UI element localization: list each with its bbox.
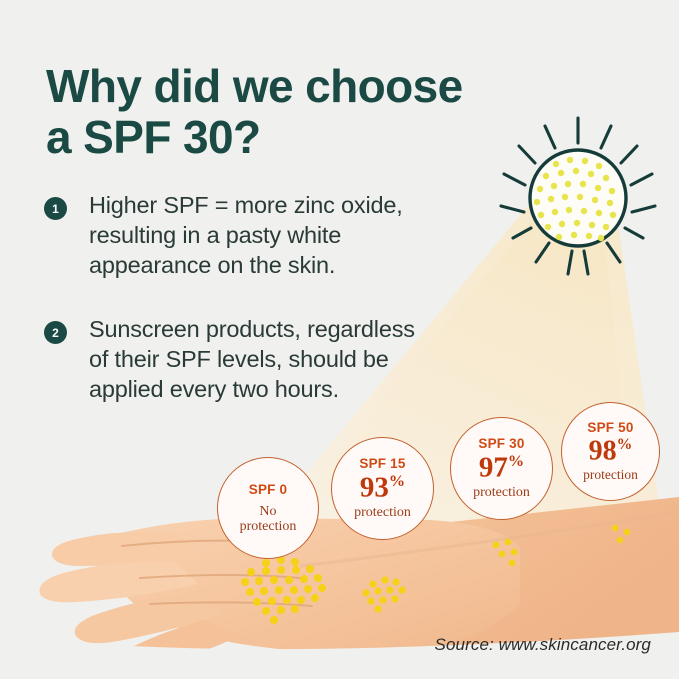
source-attribution: Source: www.skincancer.org <box>435 635 651 655</box>
list-item: 2 Sunscreen products, regardless of thei… <box>44 314 514 404</box>
reasons-list: 1 Higher SPF = more zinc oxide, resultin… <box>44 190 514 430</box>
spf-level-label: SPF 15 <box>359 456 405 471</box>
list-item-text: Sunscreen products, regardless of their … <box>89 314 514 404</box>
spf-protection-text: No protection <box>240 504 297 535</box>
list-item-text: Higher SPF = more zinc oxide, resulting … <box>89 190 514 280</box>
spf-badge-50: SPF 50 98% protection <box>561 402 660 501</box>
spf-protection-text: protection <box>354 505 411 520</box>
spf-badge-30: SPF 30 97% protection <box>450 417 553 520</box>
spf-protection-text: protection <box>473 485 530 500</box>
spf-percent-value: 98% <box>589 437 633 465</box>
list-item: 1 Higher SPF = more zinc oxide, resultin… <box>44 190 514 280</box>
spf-percent-value: 93% <box>360 473 405 503</box>
infographic-canvas: Why did we choose a SPF 30? 1 Higher SPF… <box>0 0 679 679</box>
spf-percent-value: 97% <box>479 453 524 483</box>
spf-protection-text: protection <box>583 468 638 483</box>
spf-badge-0: SPF 0 No protection <box>217 457 319 559</box>
list-item-number-badge: 2 <box>44 321 67 344</box>
page-title: Why did we choose a SPF 30? <box>46 61 606 164</box>
spf-level-label: SPF 0 <box>249 482 288 497</box>
list-item-number-badge: 1 <box>44 197 67 220</box>
spf-badge-15: SPF 15 93% protection <box>331 437 434 540</box>
spf-level-label: SPF 30 <box>478 436 524 451</box>
spf-level-label: SPF 50 <box>587 420 633 435</box>
